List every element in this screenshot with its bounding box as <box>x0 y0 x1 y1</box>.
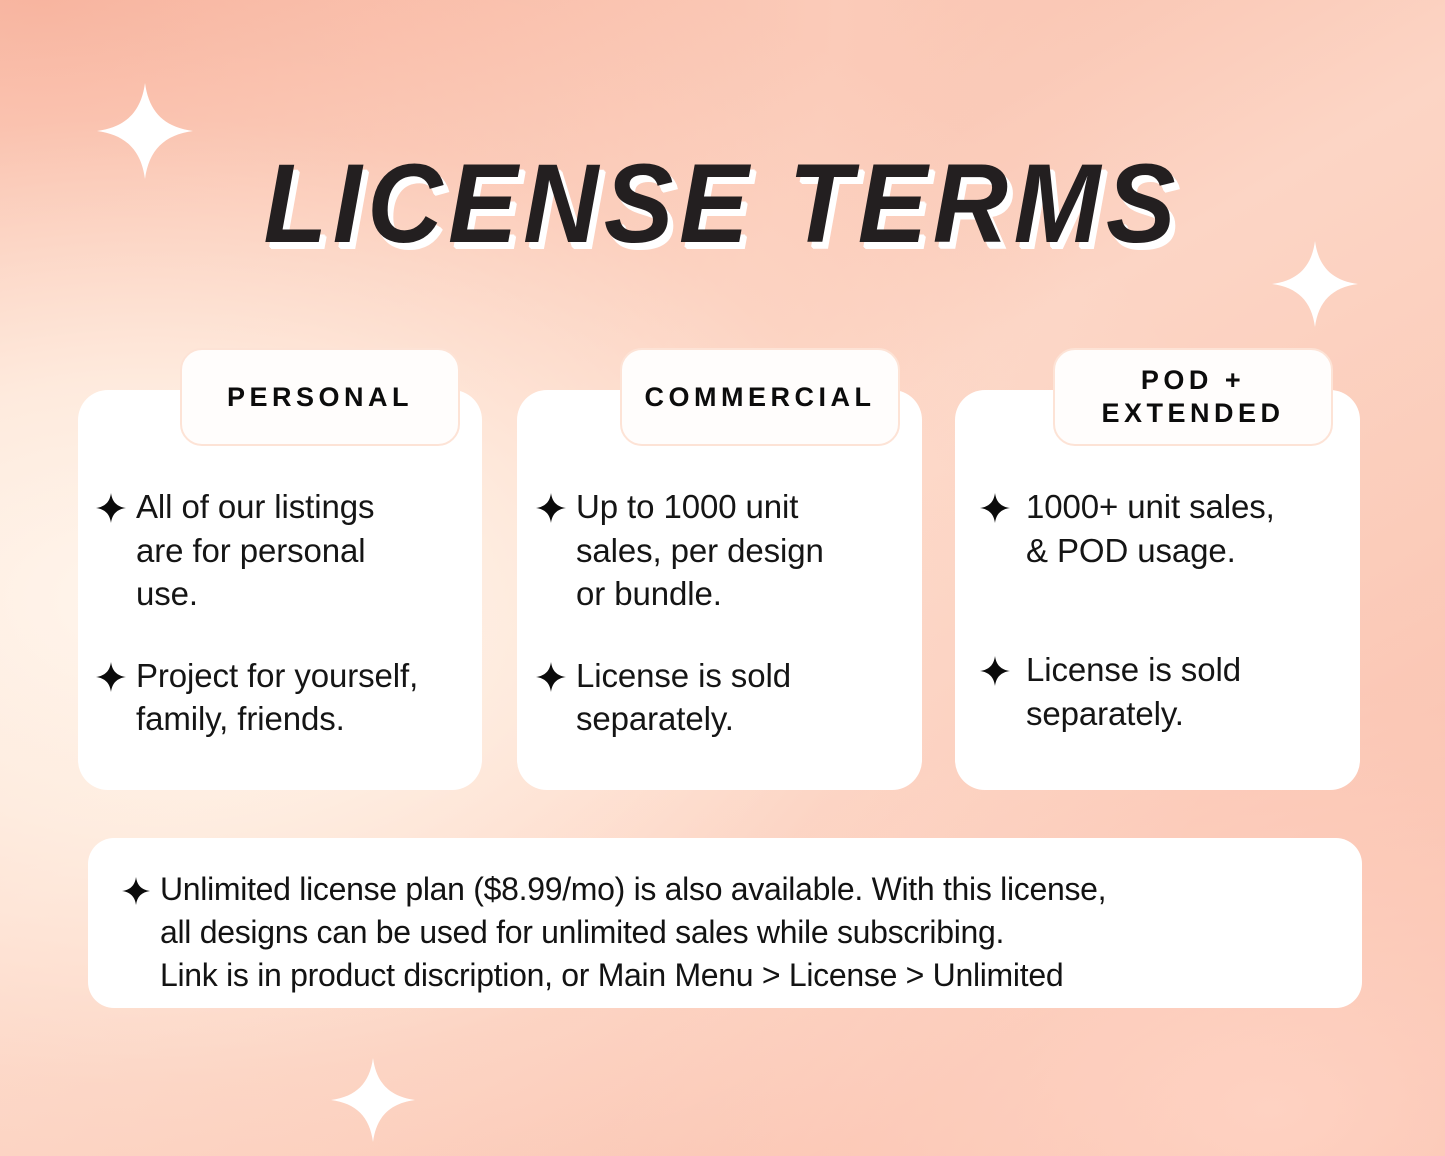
sparkle-bullet-icon <box>980 656 1010 686</box>
list-item: Up to 1000 unit sales, per design or bun… <box>536 485 928 616</box>
plan-body-pod-extended: 1000+ unit sales, & POD usage. License i… <box>980 485 1372 811</box>
plan-header-commercial: COMMERCIAL <box>620 348 900 446</box>
license-terms-poster: LICENSE TERMS PERSONAL COMMERCIAL POD + … <box>0 0 1445 1156</box>
sparkle-bullet-icon <box>96 662 126 692</box>
sparkle-bullet-icon <box>96 493 126 523</box>
list-item: License is sold separately. <box>980 648 1372 735</box>
plan-header-pod-extended: POD + EXTENDED <box>1053 348 1333 446</box>
list-item-text: License is sold separately. <box>576 654 791 741</box>
plan-title-commercial: COMMERCIAL <box>645 381 876 414</box>
list-item-text: Project for yourself, family, friends. <box>136 654 418 741</box>
banner-text: Unlimited license plan ($8.99/mo) is als… <box>160 868 1106 998</box>
plan-title-pod-extended: POD + EXTENDED <box>1101 364 1284 430</box>
plan-title-personal: PERSONAL <box>227 381 413 414</box>
list-item-text: All of our listings are for personal use… <box>136 485 374 616</box>
list-item: 1000+ unit sales, & POD usage. <box>980 485 1372 572</box>
plan-body-commercial: Up to 1000 unit sales, per design or bun… <box>536 485 928 741</box>
sparkle-bullet-icon <box>122 877 150 905</box>
sparkle-bullet-icon <box>536 493 566 523</box>
plan-body-personal: All of our listings are for personal use… <box>96 485 488 741</box>
list-item: All of our listings are for personal use… <box>96 485 488 616</box>
sparkle-bullet-icon <box>980 493 1010 523</box>
sparkle-bullet-icon <box>536 662 566 692</box>
list-item-text: License is sold separately. <box>1026 648 1241 735</box>
list-item-text: Up to 1000 unit sales, per design or bun… <box>576 485 824 616</box>
list-item-text: 1000+ unit sales, & POD usage. <box>1026 485 1275 572</box>
list-item: License is sold separately. <box>536 654 928 741</box>
unlimited-plan-banner: Unlimited license plan ($8.99/mo) is als… <box>88 838 1362 1008</box>
banner-inner: Unlimited license plan ($8.99/mo) is als… <box>88 838 1362 998</box>
list-item: Project for yourself, family, friends. <box>96 654 488 741</box>
plan-header-personal: PERSONAL <box>180 348 460 446</box>
